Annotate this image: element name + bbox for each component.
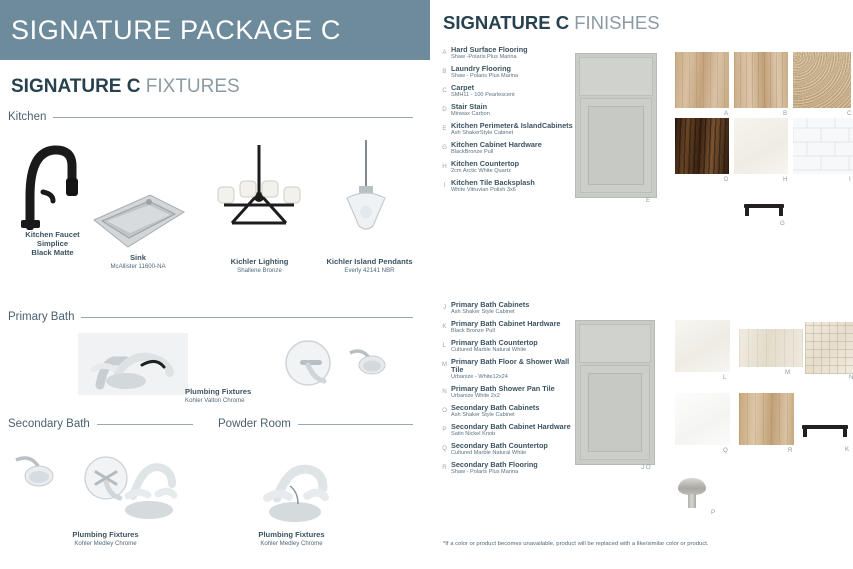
caption-powder-plumbing: Plumbing Fixtures Kohler Medley Chrome (234, 531, 349, 547)
caption-pendants: Kichler Island Pendants Everly 42141 NBR (322, 258, 417, 274)
legend-text: Laundry Flooring Shaw - Polaris Plus Mar… (451, 65, 518, 80)
kitchen-faucet-icon (10, 134, 95, 230)
legend-letter: K (438, 320, 451, 330)
legend-top: A Hard Surface Flooring Shaw -Polaris Pl… (438, 46, 578, 198)
subway-tile-icon (793, 118, 853, 174)
legend-text: Primary Bath Floor & Shower Wall Tile Ur… (451, 358, 578, 381)
legend-sub: Ash Shaker Style Cabinet (451, 412, 539, 418)
legend-name: Secondary Bath Cabinets (451, 404, 539, 412)
legend-letter: I (438, 179, 451, 189)
cabinet-panel (580, 365, 650, 460)
legend-sub: 2cm Arctic White Quartz (451, 168, 519, 174)
legend-sub: Urbanize - White12x24 (451, 374, 578, 380)
swatch-label-p: P (711, 509, 715, 516)
fixtures-heading-light: FIXTURES (146, 76, 240, 97)
legend-item: I Kitchen Tile Backsplash White Vitruvia… (438, 179, 578, 194)
swatch-hard-surface-flooring (675, 52, 729, 108)
legend-sub: Cultured Marble Natural White (451, 347, 538, 353)
caption-name: Sink (88, 254, 188, 263)
section-header-kitchen: Kitchen (8, 111, 413, 123)
caption-sub: Kohler Medley Chrome (234, 540, 349, 547)
section-divider (53, 117, 413, 118)
legend-item: D Stair Stain Minwax Carbon (438, 103, 578, 118)
legend-letter: D (438, 103, 451, 113)
legend-text: Secondary Bath Cabinets Ash Shaker Style… (451, 404, 539, 419)
legend-name: Primary Bath Floor & Shower Wall Tile (451, 358, 578, 374)
pull-leg-left (745, 207, 749, 216)
swatch-kitchen-countertop (734, 118, 788, 174)
legend-item: H Kitchen Countertop 2cm Arctic White Qu… (438, 160, 578, 175)
powder-room-fixture-image (235, 452, 350, 528)
legend-text: Primary Bath Countertop Cultured Marble … (451, 339, 538, 354)
legend-name: Stair Stain (451, 103, 490, 111)
section-divider (97, 424, 193, 425)
legend-item: E Kitchen Perimeter& IslandCabinets Ash … (438, 122, 578, 137)
legend-letter: Q (438, 442, 451, 452)
section-header-secondary-bath: Secondary Bath (8, 418, 193, 430)
legend-text: Secondary Bath Cabinet Hardware Satin Ni… (451, 423, 571, 438)
bath-faucet-icon (235, 452, 350, 528)
legend-sub: Urbanize White 2x2 (451, 393, 555, 399)
finishes-heading: SIGNATURE C FINISHES (443, 12, 660, 34)
swatch-primary-hardware-pull (802, 425, 848, 438)
swatch-kitchen-hardware-pull (744, 204, 784, 216)
legend-item: A Hard Surface Flooring Shaw -Polaris Pl… (438, 46, 578, 61)
legend-item: N Primary Bath Shower Pan Tile Urbanize … (438, 385, 578, 400)
legend-item: G Kitchen Cabinet Hardware BlackBronze P… (438, 141, 578, 156)
legend-letter: M (438, 358, 451, 368)
pull-leg-right (843, 428, 847, 437)
pull-leg-right (779, 207, 783, 216)
legend-name: Hard Surface Flooring (451, 46, 528, 54)
page-title: SIGNATURE PACKAGE C (0, 15, 341, 46)
legend-name: Primary Bath Countertop (451, 339, 538, 347)
swatch-label-d: D (724, 176, 728, 183)
caption-sub: Kohler Medley Chrome (48, 540, 163, 547)
legend-item: O Secondary Bath Cabinets Ash Shaker Sty… (438, 404, 578, 419)
legend-text: Primary Bath Cabinet Hardware Black Bron… (451, 320, 561, 335)
legend-sub: Ash ShakerStyle Cabinet (451, 130, 573, 136)
legend-sub: BlackBronze Pull (451, 149, 542, 155)
section-header-powder-room: Powder Room (218, 418, 413, 430)
chandelier-icon (212, 145, 307, 240)
legend-name: Primary Bath Shower Pan Tile (451, 385, 555, 393)
cabinet-panel (580, 98, 652, 193)
swatch-label-a: A (724, 110, 728, 117)
legend-text: Kitchen Countertop 2cm Arctic White Quar… (451, 160, 519, 175)
caption-name: Kichler Lighting (202, 258, 317, 267)
pull-leg-left (803, 428, 807, 437)
legend-letter: B (438, 65, 451, 75)
swatch-primary-countertop (675, 320, 730, 372)
legend-item: J Primary Bath Cabinets Ash Shaker Style… (438, 301, 578, 316)
legend-name: Primary Bath Cabinets (451, 301, 529, 309)
legend-letter: A (438, 46, 451, 56)
section-divider (81, 317, 413, 318)
legend-text: Kitchen Perimeter& IslandCabinets Ash Sh… (451, 122, 573, 137)
fixtures-column: SIGNATURE PACKAGE C SIGNATURE C FIXTURES… (0, 0, 430, 569)
swatch-cabinet-kitchen (575, 53, 657, 198)
legend-letter: H (438, 160, 451, 170)
swatch-label-m: M (785, 369, 790, 376)
caption-secondary-plumbing: Plumbing Fixtures Kohler Medley Chrome (48, 531, 163, 547)
swatch-label-c: C (847, 110, 851, 117)
kitchen-faucet-image (10, 134, 95, 230)
legend-item: B Laundry Flooring Shaw - Polaris Plus M… (438, 65, 578, 80)
section-label: Powder Room (218, 418, 298, 430)
pull-bar-body (802, 425, 848, 429)
swatch-secondary-flooring (739, 393, 794, 445)
cabinet-drawer (579, 57, 653, 96)
finishes-heading-bold: SIGNATURE C (443, 12, 569, 33)
caption-name: Plumbing Fixtures (48, 531, 163, 540)
shower-trim-icon (278, 333, 388, 395)
finishes-column: SIGNATURE C FINISHES A Hard Surface Floo… (435, 0, 853, 569)
section-label: Primary Bath (8, 311, 81, 323)
cabinet-inner-panel (588, 106, 644, 185)
legend-name: Kitchen Countertop (451, 160, 519, 168)
caption-name: Kichler Island Pendants (322, 258, 417, 267)
legend-letter: E (438, 122, 451, 132)
legend-text: Stair Stain Minwax Carbon (451, 103, 490, 118)
legend-text: Carpet SMH11 - 100 Pearlescent (451, 84, 515, 99)
swatch-label-n: N (849, 374, 853, 381)
legend-name: Kitchen Perimeter& IslandCabinets (451, 122, 573, 130)
swatch-label-l: L (723, 374, 726, 381)
legend-name: Primary Bath Cabinet Hardware (451, 320, 561, 328)
swatch-stair-stain (675, 118, 729, 174)
section-label: Secondary Bath (8, 418, 97, 430)
legend-name: Secondary Bath Flooring (451, 461, 538, 469)
legend-sub: Cultured Marble Natural White (451, 450, 548, 456)
swatch-label-h: H (783, 176, 787, 183)
finishes-heading-light: FINISHES (574, 12, 659, 33)
legend-text: Kitchen Cabinet Hardware BlackBronze Pul… (451, 141, 542, 156)
legend-sub: Ash Shaker Style Cabinet (451, 309, 529, 315)
swatch-laundry-flooring (734, 52, 788, 108)
swatch-cabinet-bath (575, 320, 655, 465)
swatch-label-r: R (788, 447, 792, 454)
section-header-primary-bath: Primary Bath (8, 311, 413, 323)
legend-sub: Minwax Carbon (451, 111, 490, 117)
legend-letter: O (438, 404, 451, 414)
legend-item: K Primary Bath Cabinet Hardware Black Br… (438, 320, 578, 335)
swatch-label-i: I (849, 176, 851, 183)
knob-stem (688, 494, 696, 508)
legend-letter: J (438, 301, 451, 311)
legend-text: Secondary Bath Flooring Shaw - Polaris P… (451, 461, 538, 476)
caption-name: Plumbing Fixtures (234, 531, 349, 540)
swatch-label-e: E (646, 197, 650, 204)
primary-shower-image (278, 333, 388, 395)
legend-sub: Shaw - Polaris Plus Marina (451, 73, 518, 79)
legend-bottom: J Primary Bath Cabinets Ash Shaker Style… (438, 301, 578, 480)
pendant-light-image (335, 140, 397, 240)
disclaimer-footnote: *If a color or product becomes unavailab… (443, 541, 709, 547)
swatch-primary-floor-tile (739, 329, 803, 367)
swatch-shower-pan-tile (805, 322, 853, 374)
chandelier-image (212, 145, 307, 240)
legend-sub: White Vitruvian Polish 3x6 (451, 187, 535, 193)
legend-name: Carpet (451, 84, 515, 92)
legend-letter: L (438, 339, 451, 349)
fixtures-heading-bold: SIGNATURE C (11, 76, 140, 97)
caption-sub: Shallene Bronze (202, 267, 317, 274)
legend-item: P Secondary Bath Cabinet Hardware Satin … (438, 423, 578, 438)
legend-sub: SMH11 - 100 Pearlescent (451, 92, 515, 98)
legend-text: Kitchen Tile Backsplash White Vitruvian … (451, 179, 535, 194)
legend-letter: G (438, 141, 451, 151)
pull-bar-body (744, 204, 784, 208)
caption-lighting: Kichler Lighting Shallene Bronze (202, 258, 317, 274)
primary-bath-faucet-image (78, 333, 188, 395)
legend-sub: Satin Nickel Knob (451, 431, 571, 437)
swatch-label-jo: J O (641, 464, 651, 471)
legend-text: Hard Surface Flooring Shaw -Polaris Plus… (451, 46, 528, 61)
legend-letter: P (438, 423, 451, 433)
legend-letter: N (438, 385, 451, 395)
legend-text: Secondary Bath Countertop Cultured Marbl… (451, 442, 548, 457)
legend-name: Kitchen Tile Backsplash (451, 179, 535, 187)
swatch-label-k: K (845, 446, 849, 453)
swatch-kitchen-backsplash (793, 118, 853, 174)
swatch-secondary-hardware-knob (678, 478, 706, 508)
caption-sub: Everly 42141 NBR (322, 267, 417, 274)
legend-name: Secondary Bath Cabinet Hardware (451, 423, 571, 431)
caption-sub: McAllister 11600-NA (88, 263, 188, 270)
secondary-bath-fixtures-image (6, 448, 181, 528)
section-divider (298, 424, 413, 425)
swatch-secondary-countertop (675, 393, 730, 445)
page-title-bar: SIGNATURE PACKAGE C (0, 0, 430, 60)
cabinet-inner-panel (588, 373, 642, 452)
bath-fixture-set-icon (6, 448, 181, 528)
caption-sub: Kohler Valton Chrome (185, 397, 315, 404)
bath-faucet-icon (78, 333, 188, 395)
legend-item: Q Secondary Bath Countertop Cultured Mar… (438, 442, 578, 457)
legend-item: L Primary Bath Countertop Cultured Marbl… (438, 339, 578, 354)
legend-item: R Secondary Bath Flooring Shaw - Polaris… (438, 461, 578, 476)
caption-sink: Sink McAllister 11600-NA (88, 254, 188, 270)
section-label: Kitchen (8, 111, 53, 123)
swatch-label-b: B (783, 110, 787, 117)
legend-text: Primary Bath Cabinets Ash Shaker Style C… (451, 301, 529, 316)
fixtures-heading: SIGNATURE C FIXTURES (11, 76, 240, 98)
legend-name: Kitchen Cabinet Hardware (451, 141, 542, 149)
legend-text: Primary Bath Shower Pan Tile Urbanize Wh… (451, 385, 555, 400)
pendant-light-icon (335, 140, 397, 240)
legend-item: M Primary Bath Floor & Shower Wall Tile … (438, 358, 578, 381)
swatch-label-q: Q (723, 447, 728, 454)
legend-letter: R (438, 461, 451, 471)
kitchen-sink-image (88, 190, 188, 252)
sink-icon (88, 190, 188, 252)
legend-sub: Black Bronze Pull (451, 328, 561, 334)
legend-letter: C (438, 84, 451, 94)
legend-name: Laundry Flooring (451, 65, 518, 73)
swatch-label-g: G (780, 220, 785, 227)
legend-item: C Carpet SMH11 - 100 Pearlescent (438, 84, 578, 99)
legend-sub: Shaw - Polaris Plus Marina (451, 469, 538, 475)
cabinet-drawer (579, 324, 651, 363)
legend-name: Secondary Bath Countertop (451, 442, 548, 450)
legend-sub: Shaw -Polaris Plus Marina (451, 54, 528, 60)
swatch-carpet (793, 52, 851, 108)
